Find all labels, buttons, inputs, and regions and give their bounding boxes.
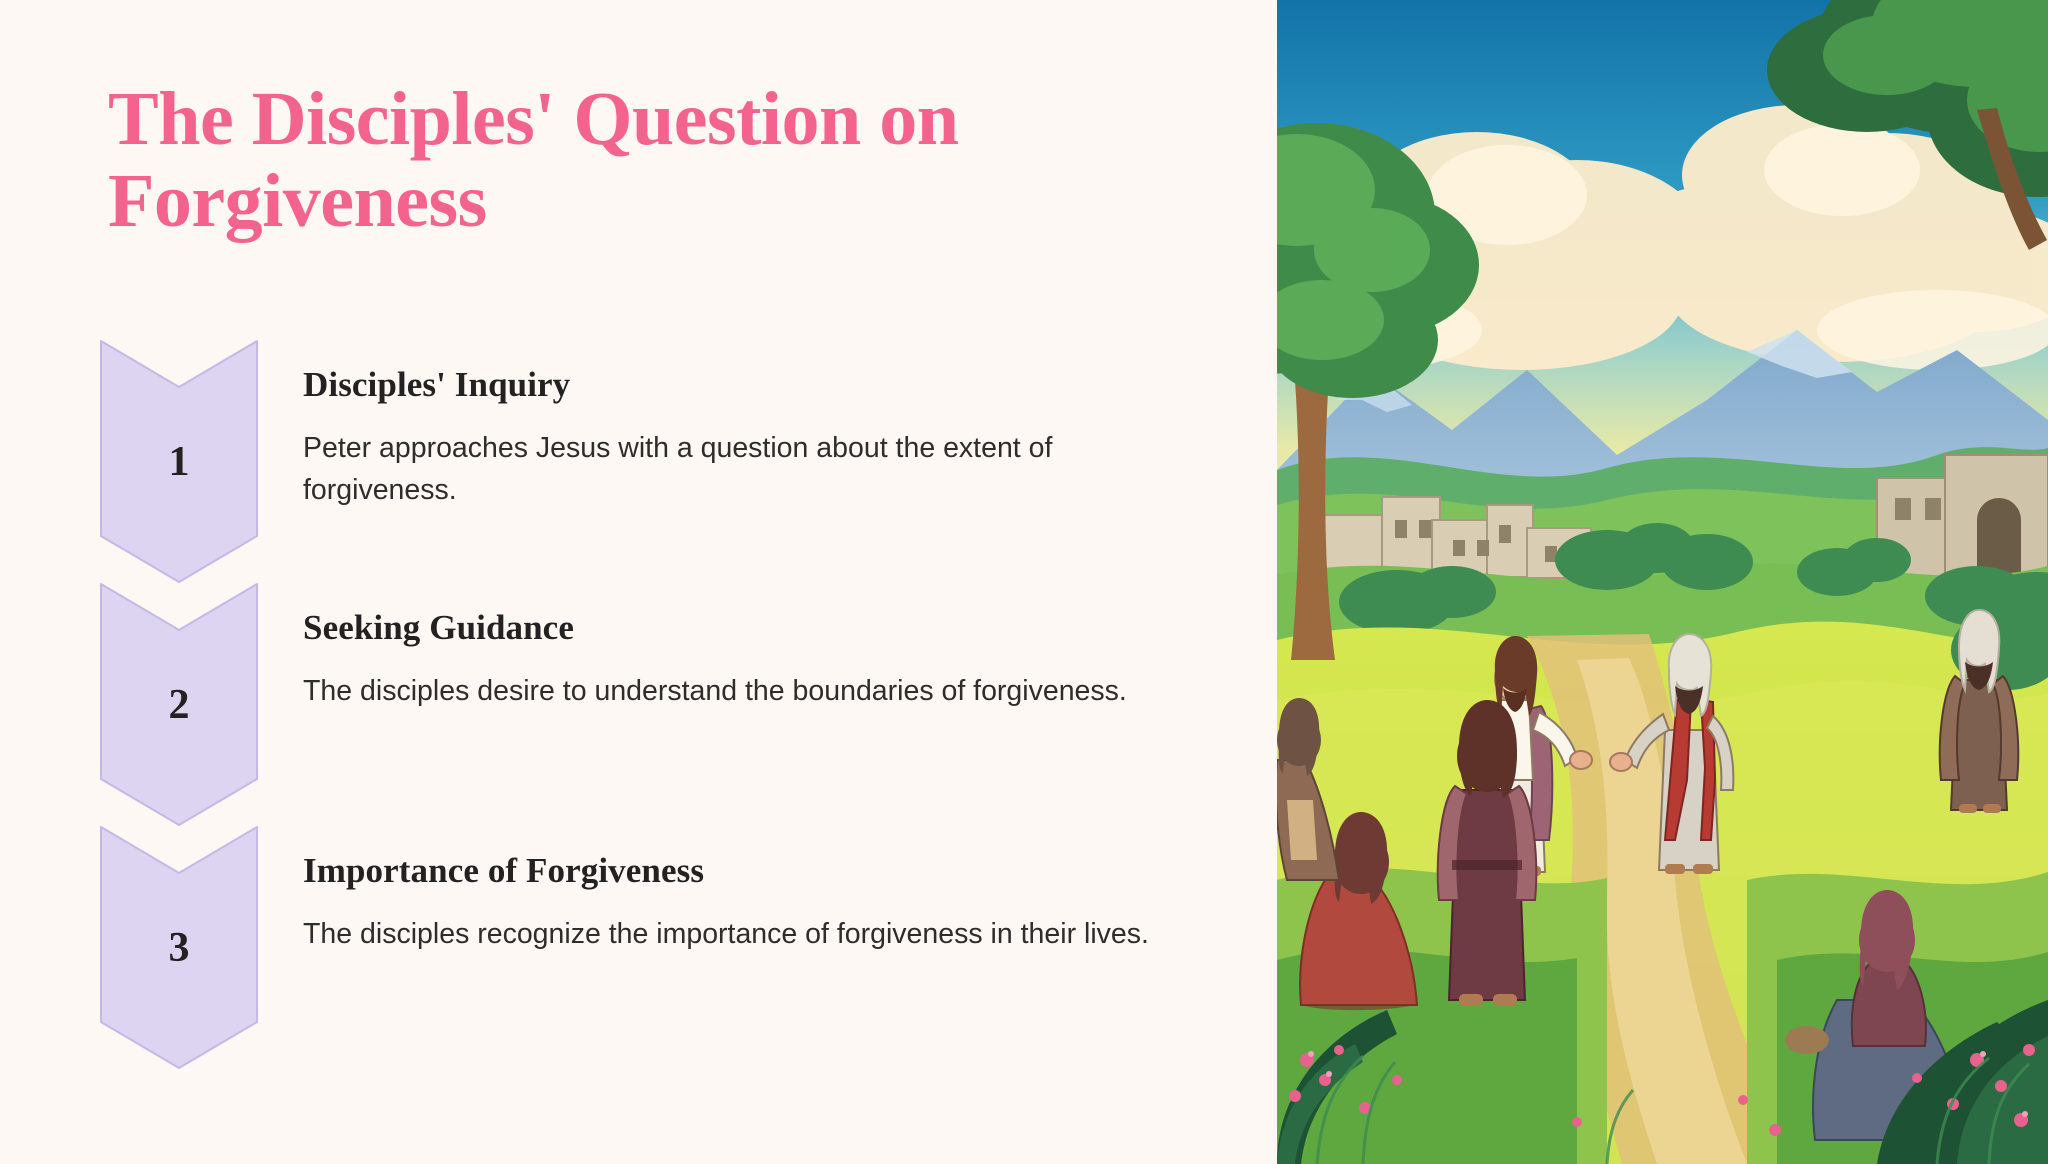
page-title: The Disciples' Question on Forgiveness <box>108 78 1118 242</box>
list-item: 2 Seeking Guidance The disciples desire … <box>100 583 1230 826</box>
step-description: Peter approaches Jesus with a question a… <box>303 428 1173 512</box>
step-content: Importance of Forgiveness The disciples … <box>303 826 1193 956</box>
step-marker: 3 <box>100 826 258 1069</box>
content-panel: The Disciples' Question on Forgiveness 1… <box>0 0 1277 1164</box>
step-number: 1 <box>100 340 258 583</box>
illustration-panel <box>1277 0 2048 1164</box>
step-heading: Importance of Forgiveness <box>303 850 1193 892</box>
step-description: The disciples desire to understand the b… <box>303 671 1173 713</box>
biblical-scene-illustration <box>1277 0 2048 1164</box>
step-number: 3 <box>100 826 258 1069</box>
step-content: Seeking Guidance The disciples desire to… <box>303 583 1193 713</box>
step-description: The disciples recognize the importance o… <box>303 914 1173 956</box>
step-heading: Seeking Guidance <box>303 607 1193 649</box>
step-number: 2 <box>100 583 258 826</box>
slide-root: The Disciples' Question on Forgiveness 1… <box>0 0 2048 1164</box>
list-item: 1 Disciples' Inquiry Peter approaches Je… <box>100 340 1230 583</box>
step-content: Disciples' Inquiry Peter approaches Jesu… <box>303 340 1193 512</box>
step-marker: 1 <box>100 340 258 583</box>
list-item: 3 Importance of Forgiveness The disciple… <box>100 826 1230 1069</box>
step-heading: Disciples' Inquiry <box>303 364 1193 406</box>
step-marker: 2 <box>100 583 258 826</box>
steps-list: 1 Disciples' Inquiry Peter approaches Je… <box>100 340 1230 1069</box>
